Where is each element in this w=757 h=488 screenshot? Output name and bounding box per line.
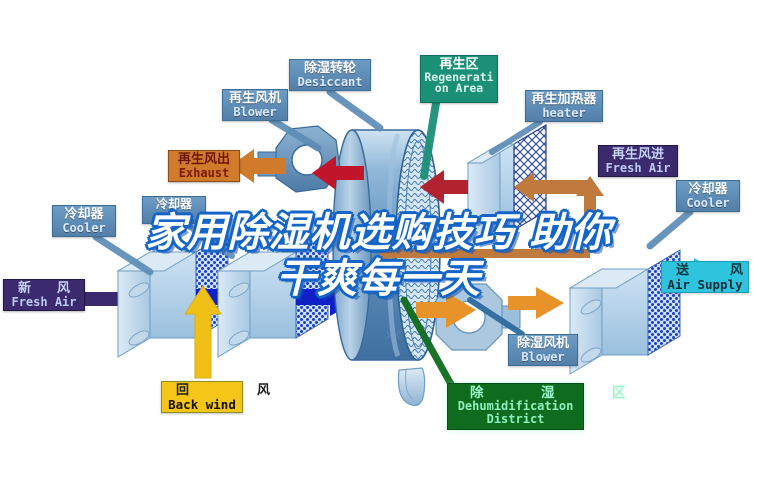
- label-en: Cooler: [677, 197, 739, 209]
- label-cn: 再生加热器: [526, 93, 602, 107]
- label-en: Fresh Air: [599, 162, 677, 174]
- label-cn: 再生风进: [599, 148, 677, 162]
- label-cn: 除 湿 区: [448, 386, 583, 400]
- label-en-line1: Dehumidification: [448, 400, 583, 412]
- drain-pan: [398, 368, 424, 406]
- label-cn: 除湿风机: [509, 337, 577, 351]
- label-cn: 新 风: [4, 282, 84, 296]
- label-regeneration-blower[interactable]: 再生风机 Blower: [222, 89, 288, 121]
- label-fresh-air-in[interactable]: 新 风 Fresh Air: [3, 279, 85, 311]
- label-regeneration-area[interactable]: 再生区 Regenerati on Area: [420, 55, 498, 103]
- label-regeneration-fresh-air-in[interactable]: 再生风进 Fresh Air: [598, 145, 678, 177]
- label-regeneration-heater[interactable]: 再生加热器 heater: [525, 90, 603, 122]
- label-cn: 送 风: [662, 264, 748, 278]
- label-cn: 冷却器: [53, 208, 115, 222]
- label-dehumidify-blower[interactable]: 除湿风机 Blower: [508, 334, 578, 366]
- label-en: Cooler: [53, 222, 115, 234]
- label-air-supply[interactable]: 送 风 Air Supply: [661, 261, 749, 293]
- label-en-line2: District: [448, 413, 583, 425]
- label-cn: 再生风机: [223, 92, 287, 106]
- label-en: Air Supply: [662, 278, 748, 291]
- label-cooler-left[interactable]: 冷却器 Cooler: [52, 205, 116, 237]
- label-dehumidification-district[interactable]: 除 湿 区 Dehumidification District: [447, 383, 584, 430]
- label-en: Exhaust: [169, 167, 239, 179]
- label-en: heater: [526, 107, 602, 119]
- label-en: Back wind: [162, 398, 242, 411]
- label-desiccant-wheel[interactable]: 除湿转轮 Desiccant: [289, 59, 371, 91]
- diagram-artwork: [0, 0, 757, 488]
- label-cn: 回 风: [162, 384, 242, 398]
- label-cooler-right[interactable]: 冷却器 Cooler: [676, 180, 740, 212]
- label-cn: 冷却器: [143, 198, 205, 210]
- label-cn: 除湿转轮: [290, 62, 370, 76]
- diagram-canvas: 除湿转轮 Desiccant 再生风机 Blower 再生区 Regenerat…: [0, 0, 757, 488]
- label-en: Fresh Air: [4, 296, 84, 308]
- label-exhaust[interactable]: 再生风出 Exhaust: [168, 150, 240, 182]
- label-cn: 冷却器: [677, 183, 739, 197]
- label-en: Desiccant: [290, 76, 370, 88]
- label-back-wind[interactable]: 回 风 Back wind: [161, 381, 243, 413]
- label-en-line2: on Area: [421, 83, 497, 95]
- label-en: Blower: [509, 351, 577, 363]
- label-en: Blower: [223, 106, 287, 118]
- label-cn: 再生风出: [169, 153, 239, 167]
- watermark: XK: [386, 330, 401, 342]
- label-cooler-mid[interactable]: 冷却器: [142, 196, 206, 224]
